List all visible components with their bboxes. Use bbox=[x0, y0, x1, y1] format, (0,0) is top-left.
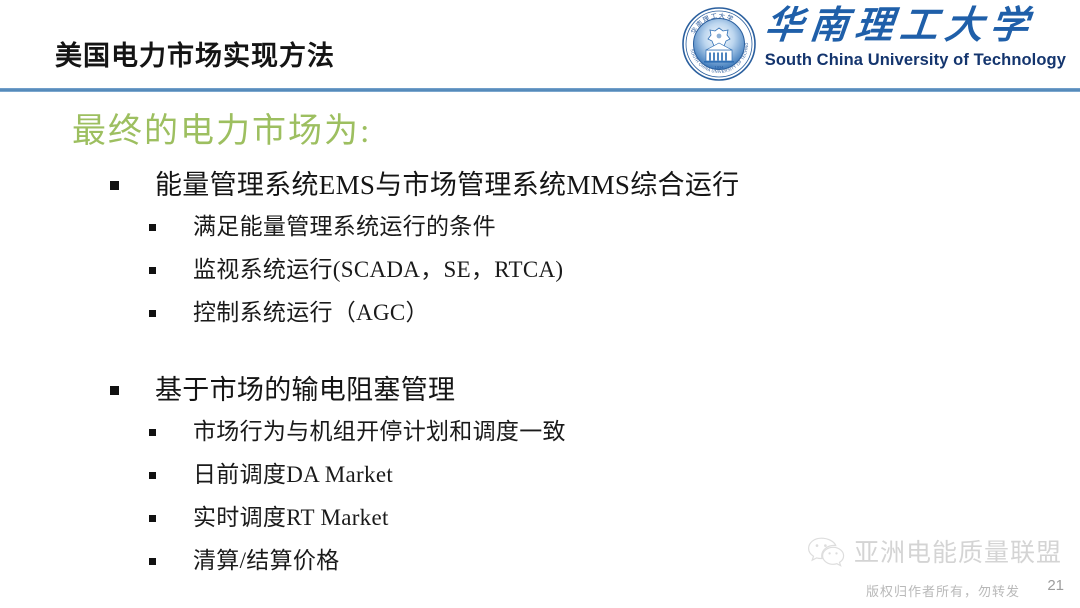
square-bullet-icon bbox=[149, 224, 156, 231]
square-bullet-icon bbox=[149, 558, 156, 565]
bullet-level2-label: 日前调度DA Market bbox=[193, 462, 393, 487]
bullet-level1-label: 基于市场的输电阻塞管理 bbox=[155, 375, 455, 405]
bullet-level2: 监视系统运行(SCADA，SE，RTCA) bbox=[0, 255, 1080, 285]
watermark-label: 亚洲电能质量联盟 bbox=[854, 540, 1062, 568]
bullet-level2-label: 清算/结算价格 bbox=[193, 548, 340, 573]
square-bullet-icon bbox=[110, 181, 119, 190]
bullet-level2-label: 控制系统运行（AGC） bbox=[193, 300, 429, 325]
bullet-level2: 实时调度RT Market bbox=[0, 503, 1080, 533]
bullet-level1-label: 能量管理系统EMS与市场管理系统MMS综合运行 bbox=[155, 170, 739, 200]
bullet-level2-label: 满足能量管理系统运行的条件 bbox=[193, 214, 496, 239]
bullet-group-spacer bbox=[0, 341, 1080, 373]
bullet-list: 能量管理系统EMS与市场管理系统MMS综合运行 满足能量管理系统运行的条件 监视… bbox=[0, 168, 1080, 589]
university-logo: 华南理工大学 SOUTH CHINA UNIVERSITY OF TECHNOL… bbox=[681, 4, 1066, 86]
university-name-cn: 华南理工大学 bbox=[762, 4, 1037, 48]
square-bullet-icon bbox=[149, 515, 156, 522]
copyright-notice: 版权归作者所有，勿转发 bbox=[866, 581, 1020, 600]
square-bullet-icon bbox=[149, 429, 156, 436]
section-heading: 最终的电力市场为: bbox=[72, 112, 371, 152]
bullet-level2: 市场行为与机组开停计划和调度一致 bbox=[0, 417, 1080, 447]
svg-text:1934: 1934 bbox=[714, 65, 724, 70]
slide-header: 美国电力市场实现方法 bbox=[0, 0, 1080, 92]
page-title: 美国电力市场实现方法 bbox=[55, 34, 335, 73]
bullet-level2: 满足能量管理系统运行的条件 bbox=[0, 212, 1080, 242]
university-wordmark: 华南理工大学 South China University of Technol… bbox=[765, 4, 1066, 69]
slide-body: 最终的电力市场为: 能量管理系统EMS与市场管理系统MMS综合运行 满足能量管理… bbox=[0, 92, 1080, 608]
bullet-level1: 基于市场的输电阻塞管理 bbox=[0, 373, 1080, 407]
page-number: 21 bbox=[1047, 577, 1064, 594]
square-bullet-icon bbox=[149, 472, 156, 479]
bullet-level1: 能量管理系统EMS与市场管理系统MMS综合运行 bbox=[0, 168, 1080, 202]
wechat-watermark: 亚洲电能质量联盟 bbox=[806, 535, 1062, 572]
bullet-level2-label: 实时调度RT Market bbox=[193, 505, 389, 530]
university-name-en: South China University of Technology bbox=[765, 51, 1066, 69]
slide-root: 美国电力市场实现方法 bbox=[0, 0, 1080, 608]
square-bullet-icon bbox=[149, 267, 156, 274]
wechat-icon bbox=[806, 535, 846, 572]
scut-seal-emblem-icon: 华南理工大学 SOUTH CHINA UNIVERSITY OF TECHNOL… bbox=[681, 6, 757, 82]
bullet-level2: 日前调度DA Market bbox=[0, 460, 1080, 490]
bullet-level2-label: 监视系统运行(SCADA，SE，RTCA) bbox=[193, 257, 563, 282]
square-bullet-icon bbox=[149, 310, 156, 317]
square-bullet-icon bbox=[110, 386, 119, 395]
bullet-level2-label: 市场行为与机组开停计划和调度一致 bbox=[193, 419, 566, 444]
bullet-level2: 控制系统运行（AGC） bbox=[0, 298, 1080, 328]
